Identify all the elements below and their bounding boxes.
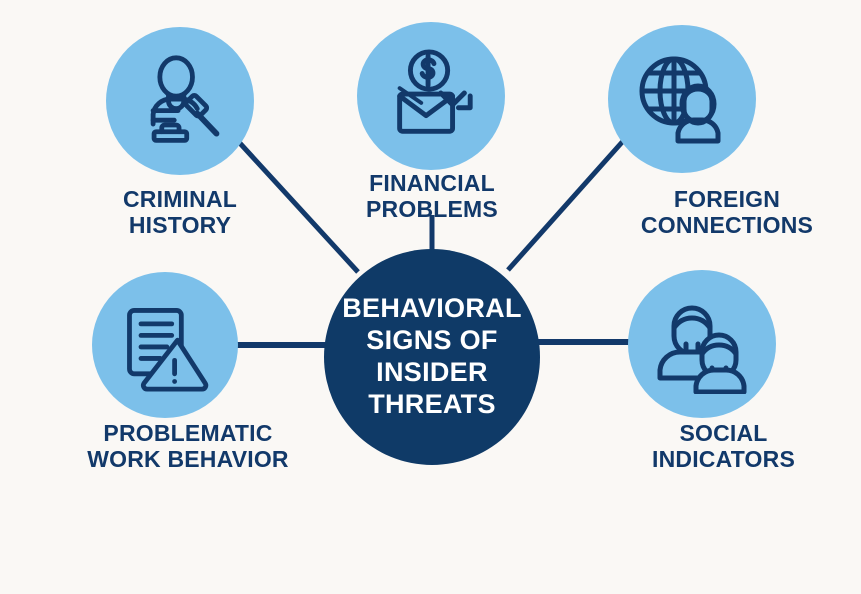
document-warning-icon bbox=[117, 297, 213, 393]
financial-problems-label: FINANCIAL PROBLEMS bbox=[332, 170, 532, 223]
center-hub-circle[interactable]: BEHAVIORAL SIGNS OF INSIDER THREATS bbox=[324, 249, 540, 465]
insider-threat-infographic: CRIMINAL HISTORY FINANCIAL PROBLEM bbox=[0, 0, 861, 594]
gavel-person-icon bbox=[132, 53, 228, 149]
two-people-icon bbox=[652, 294, 752, 394]
problematic-work-behavior-circle[interactable] bbox=[92, 272, 238, 418]
criminal-history-label: CRIMINAL HISTORY bbox=[60, 186, 300, 239]
foreign-connections-circle[interactable] bbox=[608, 25, 756, 173]
financial-problems-circle[interactable] bbox=[357, 22, 505, 170]
problematic-work-behavior-label: PROBLEMATIC WORK BEHAVIOR bbox=[38, 420, 338, 473]
social-indicators-circle[interactable] bbox=[628, 270, 776, 418]
globe-person-icon bbox=[632, 49, 732, 149]
dollar-envelope-decline-icon bbox=[382, 47, 480, 145]
center-hub-title: BEHAVIORAL SIGNS OF INSIDER THREATS bbox=[342, 293, 522, 420]
social-indicators-label: SOCIAL INDICATORS bbox=[586, 420, 861, 473]
criminal-history-circle[interactable] bbox=[106, 27, 254, 175]
foreign-connections-label: FOREIGN CONNECTIONS bbox=[592, 186, 861, 239]
